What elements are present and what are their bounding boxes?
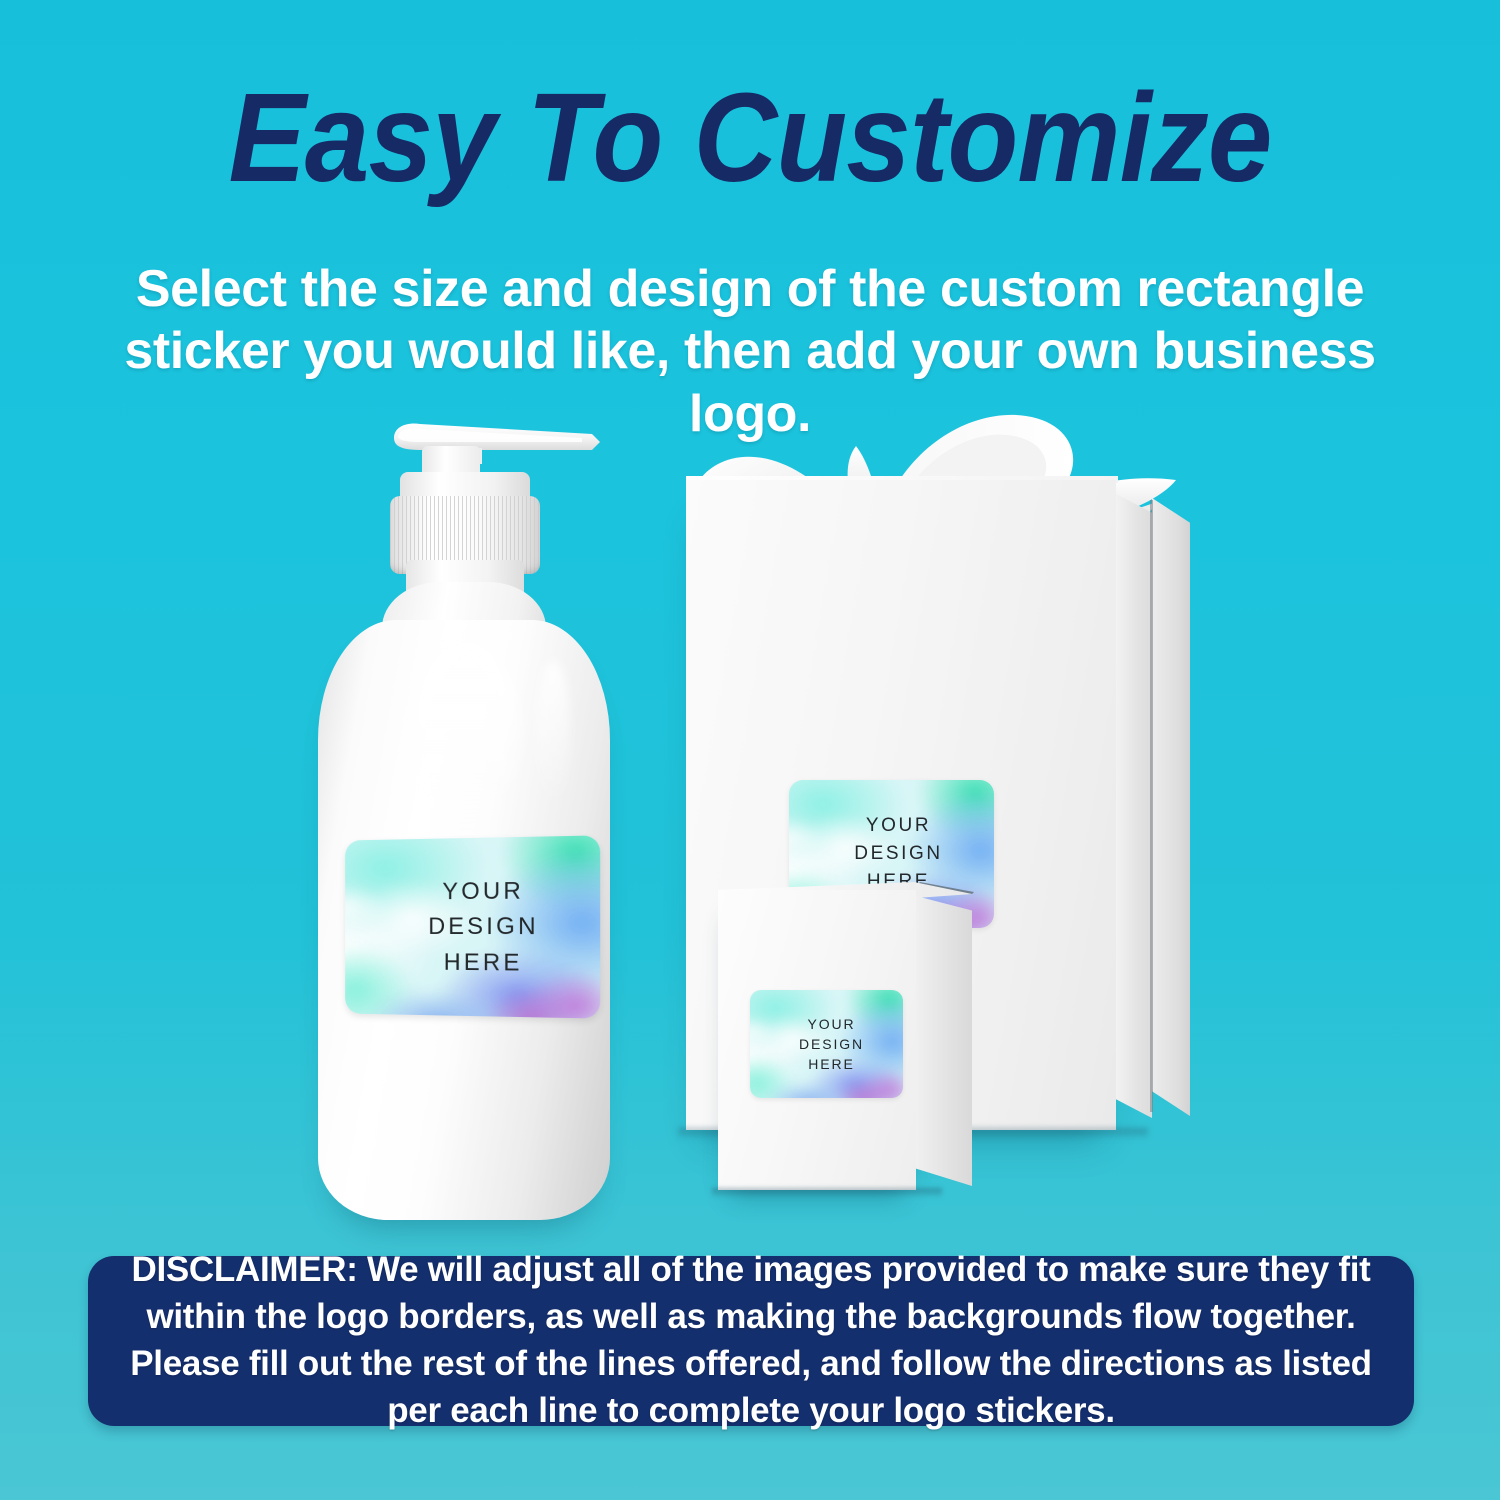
sticker-line-1: YOUR xyxy=(442,873,524,909)
sticker-line-2: DESIGN xyxy=(428,909,539,945)
gift-box-side-face-2 xyxy=(1152,498,1190,1116)
sticker-line-3: HERE xyxy=(808,1054,855,1074)
sticker-line-1: YOUR xyxy=(866,812,931,840)
gift-box-seam xyxy=(1150,500,1153,1112)
page-title: Easy To Customize xyxy=(60,74,1440,203)
pump-nozzle-icon xyxy=(386,420,606,468)
small-box-side-face xyxy=(916,896,972,1186)
pump-bottle: YOUR DESIGN HERE xyxy=(290,410,640,1230)
disclaimer-label: DISCLAIMER: xyxy=(131,1250,357,1289)
sticker-line-1: YOUR xyxy=(807,1014,855,1034)
sticker-line-2: DESIGN xyxy=(799,1034,864,1054)
promo-banner: Easy To Customize Select the size and de… xyxy=(0,0,1500,1500)
sticker-line-3: HERE xyxy=(444,945,523,981)
small-box-shadow xyxy=(712,1188,942,1198)
sticker-text: YOUR DESIGN HERE xyxy=(750,990,903,1098)
bottle-sticker[interactable]: YOUR DESIGN HERE xyxy=(345,835,600,1018)
bottle-highlight-secondary xyxy=(536,660,570,810)
product-scene: YOUR DESIGN HERE YOUR DESIGN HERE xyxy=(0,390,1500,1250)
bottle-highlight xyxy=(410,642,522,834)
small-product-box: YOUR DESIGN HERE xyxy=(718,890,988,1190)
disclaimer-text: DISCLAIMER: We will adjust all of the im… xyxy=(88,1247,1414,1435)
small-box-sticker[interactable]: YOUR DESIGN HERE xyxy=(750,990,903,1098)
gift-box-side-face xyxy=(1116,494,1152,1118)
disclaimer-panel: DISCLAIMER: We will adjust all of the im… xyxy=(88,1256,1414,1426)
sticker-line-2: DESIGN xyxy=(854,840,942,868)
sticker-text: YOUR DESIGN HERE xyxy=(345,835,600,1018)
